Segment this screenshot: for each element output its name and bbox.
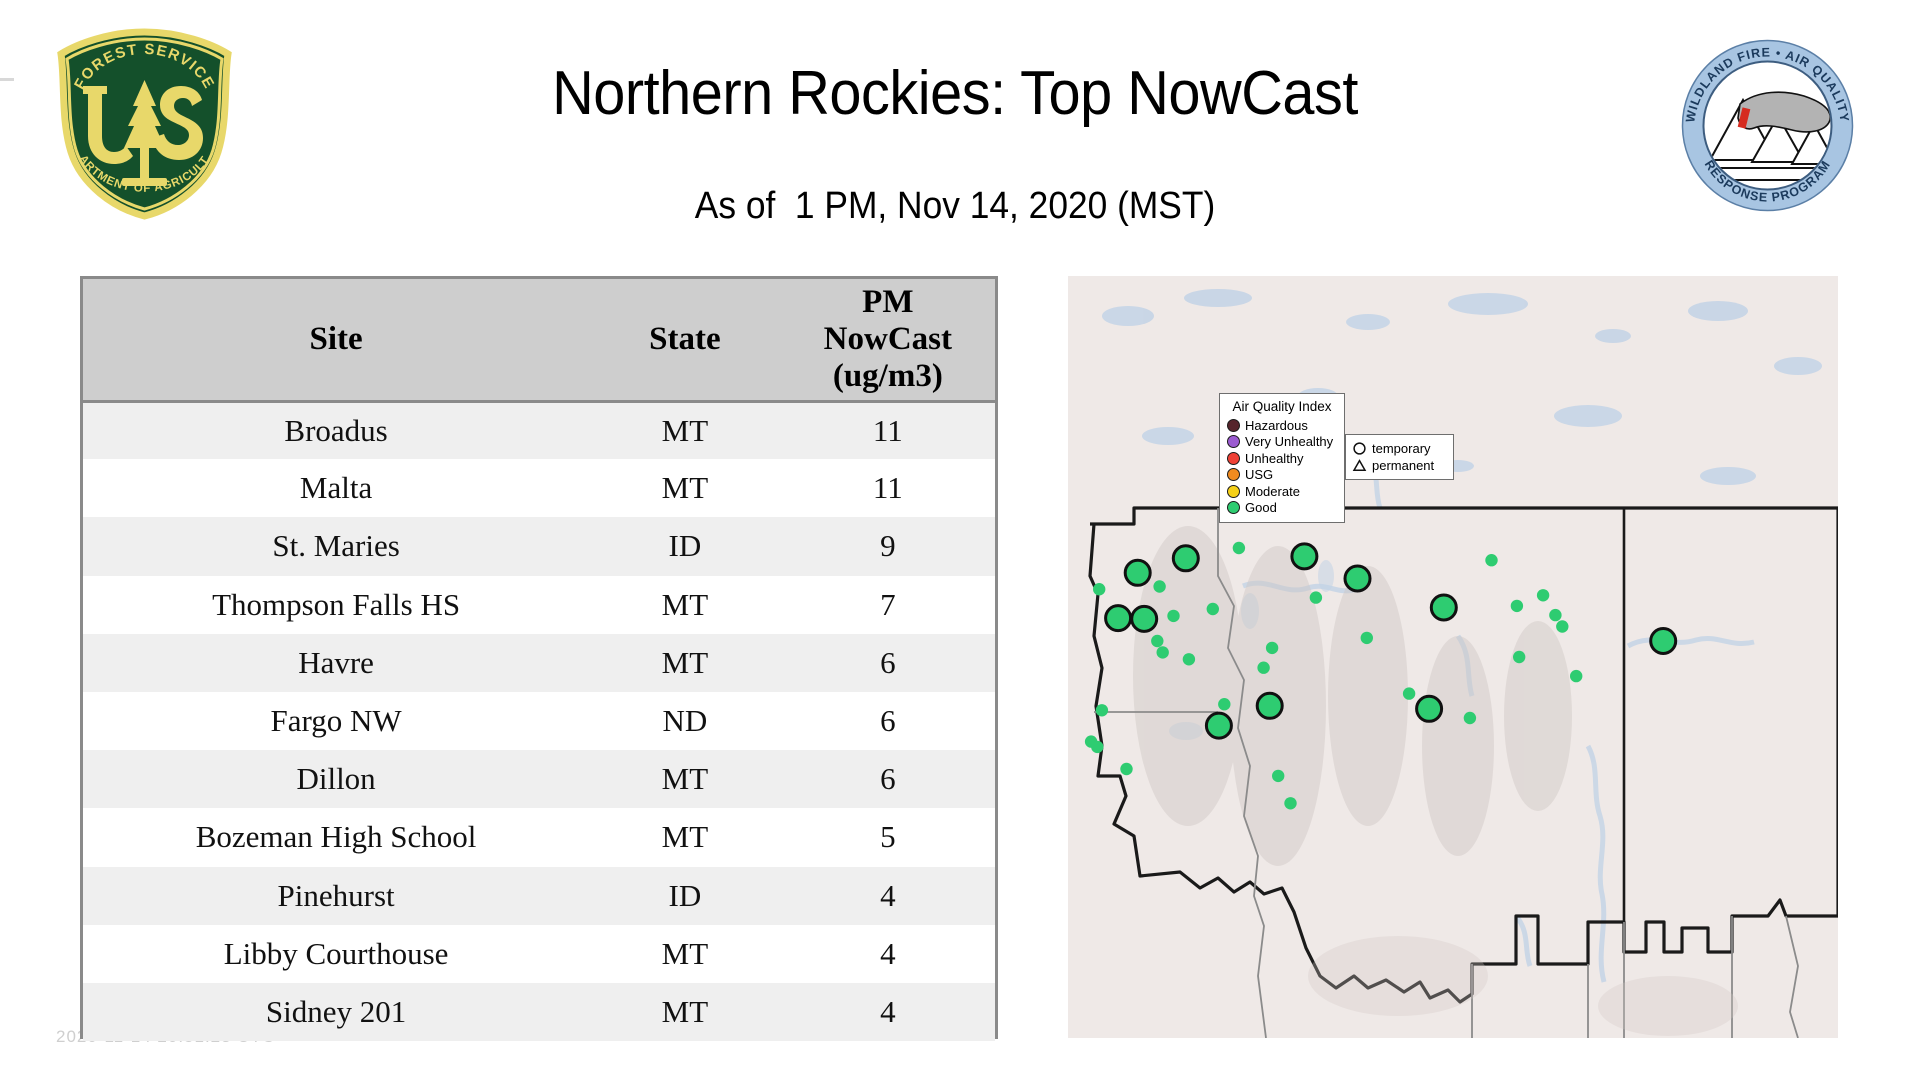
monitor-marker-small[interactable] bbox=[1218, 698, 1230, 710]
table-row: Malta MT 11 bbox=[83, 459, 995, 517]
monitor-marker-small[interactable] bbox=[1096, 704, 1108, 716]
monitor-marker-small[interactable] bbox=[1513, 651, 1525, 663]
cell-site: Sidney 201 bbox=[83, 983, 589, 1041]
legend-item-unhealthy: Unhealthy bbox=[1227, 450, 1337, 467]
monitor-marker-small[interactable] bbox=[1153, 580, 1165, 592]
legend-swatch-moderate-icon bbox=[1227, 485, 1240, 498]
monitor-marker-small[interactable] bbox=[1556, 620, 1568, 632]
cell-state: MT bbox=[589, 401, 781, 459]
legend-label-unhealthy: Unhealthy bbox=[1245, 451, 1304, 466]
cell-site: Broadus bbox=[83, 401, 589, 459]
column-header-site-label: Site bbox=[309, 321, 362, 357]
cell-state: MT bbox=[589, 925, 781, 983]
monitor-marker-small[interactable] bbox=[1120, 763, 1132, 775]
wildland-fire-air-quality-logo: WILDLAND FIRE • AIR QUALITY RESPONSE PRO… bbox=[1680, 38, 1855, 213]
monitor-marker-small[interactable] bbox=[1272, 770, 1284, 782]
table-row: Libby Courthouse MT 4 bbox=[83, 925, 995, 983]
table-row: Pinehurst ID 4 bbox=[83, 867, 995, 925]
monitor-marker-small[interactable] bbox=[1207, 603, 1219, 615]
cell-state: MT bbox=[589, 459, 781, 517]
cell-site: Thompson Falls HS bbox=[83, 576, 589, 634]
cell-site: Pinehurst bbox=[83, 867, 589, 925]
monitor-site-markers bbox=[1068, 276, 1838, 1038]
slide-edge-tick bbox=[0, 78, 14, 81]
table-row: Havre MT 6 bbox=[83, 634, 995, 692]
table-row: Bozeman High School MT 5 bbox=[83, 808, 995, 866]
legend-item-temporary: temporary bbox=[1352, 440, 1447, 457]
cell-pm: 9 bbox=[781, 517, 995, 575]
monitor-marker-small[interactable] bbox=[1403, 687, 1415, 699]
cell-site: Libby Courthouse bbox=[83, 925, 589, 983]
cell-pm: 11 bbox=[781, 459, 995, 517]
monitor-marker-small[interactable] bbox=[1570, 670, 1582, 682]
cell-site: Dillon bbox=[83, 750, 589, 808]
cell-pm: 11 bbox=[781, 401, 995, 459]
monitor-marker-small[interactable] bbox=[1257, 662, 1269, 674]
cell-pm: 6 bbox=[781, 692, 995, 750]
cell-state: MT bbox=[589, 983, 781, 1041]
table-row: Thompson Falls HS MT 7 bbox=[83, 576, 995, 634]
monitor-marker-small[interactable] bbox=[1151, 635, 1163, 647]
cell-site: St. Maries bbox=[83, 517, 589, 575]
cell-pm: 7 bbox=[781, 576, 995, 634]
cell-pm: 4 bbox=[781, 867, 995, 925]
legend-label-hazardous: Hazardous bbox=[1245, 418, 1308, 433]
monitor-marker-small[interactable] bbox=[1093, 583, 1105, 595]
legend-item-moderate: Moderate bbox=[1227, 483, 1337, 500]
nowcast-table-container: Site State PM NowCast (ug/m3) Broadus MT bbox=[80, 276, 998, 1039]
cell-state: MT bbox=[589, 808, 781, 866]
legend-item-usg: USG bbox=[1227, 467, 1337, 484]
cell-state: ID bbox=[589, 517, 781, 575]
cell-site: Fargo NW bbox=[83, 692, 589, 750]
monitor-marker-highlighted[interactable] bbox=[1132, 606, 1157, 631]
legend-item-very-unhealthy: Very Unhealthy bbox=[1227, 434, 1337, 451]
legend-swatch-usg-icon bbox=[1227, 468, 1240, 481]
monitor-type-legend: temporary permanent bbox=[1345, 434, 1454, 480]
monitor-marker-small[interactable] bbox=[1091, 741, 1103, 753]
legend-title: Air Quality Index bbox=[1227, 399, 1337, 414]
us-forest-service-logo: FOREST SERVICE DEPARTMENT OF AGRICULTURE bbox=[52, 28, 237, 220]
legend-item-permanent: permanent bbox=[1352, 457, 1447, 474]
column-header-pm-line1: PM bbox=[785, 284, 991, 321]
monitor-marker-highlighted[interactable] bbox=[1173, 546, 1198, 571]
column-header-site: Site bbox=[83, 279, 589, 401]
cell-state: MT bbox=[589, 634, 781, 692]
monitor-marker-highlighted[interactable] bbox=[1417, 696, 1442, 721]
cell-pm: 5 bbox=[781, 808, 995, 866]
cell-pm: 6 bbox=[781, 750, 995, 808]
table-row: Dillon MT 6 bbox=[83, 750, 995, 808]
cell-state: ID bbox=[589, 867, 781, 925]
monitor-marker-small[interactable] bbox=[1485, 554, 1497, 566]
column-header-state-label: State bbox=[649, 321, 720, 357]
cell-pm: 4 bbox=[781, 925, 995, 983]
legend-swatch-very-unhealthy-icon bbox=[1227, 435, 1240, 448]
table-row: Fargo NW ND 6 bbox=[83, 692, 995, 750]
legend-label-temporary: temporary bbox=[1372, 441, 1431, 456]
monitor-marker-small[interactable] bbox=[1183, 653, 1195, 665]
table-row: Sidney 201 MT 4 bbox=[83, 983, 995, 1041]
monitor-marker-highlighted[interactable] bbox=[1651, 629, 1676, 654]
monitor-marker-small[interactable] bbox=[1549, 609, 1561, 621]
monitor-marker-highlighted[interactable] bbox=[1292, 544, 1317, 569]
monitor-marker-highlighted[interactable] bbox=[1431, 595, 1456, 620]
cell-pm: 6 bbox=[781, 634, 995, 692]
cell-state: MT bbox=[589, 576, 781, 634]
air-quality-monitor-map[interactable]: Air Quality Index Hazardous Very Unhealt… bbox=[1068, 276, 1838, 1038]
monitor-marker-small[interactable] bbox=[1310, 591, 1322, 603]
table-row: St. Maries ID 9 bbox=[83, 517, 995, 575]
legend-label-permanent: permanent bbox=[1372, 458, 1434, 473]
column-header-state: State bbox=[589, 279, 781, 401]
column-header-pm-nowcast: PM NowCast (ug/m3) bbox=[781, 279, 995, 401]
monitor-marker-small[interactable] bbox=[1233, 542, 1245, 554]
nowcast-table: Site State PM NowCast (ug/m3) Broadus MT bbox=[83, 279, 995, 1041]
monitor-marker-small[interactable] bbox=[1167, 610, 1179, 622]
cell-site: Malta bbox=[83, 459, 589, 517]
legend-label-good: Good bbox=[1245, 500, 1277, 515]
legend-label-moderate: Moderate bbox=[1245, 484, 1300, 499]
monitor-marker-small[interactable] bbox=[1511, 600, 1523, 612]
monitor-marker-small[interactable] bbox=[1266, 642, 1278, 654]
circle-icon bbox=[1352, 441, 1367, 456]
table-header-row: Site State PM NowCast (ug/m3) bbox=[83, 279, 995, 401]
legend-item-good: Good bbox=[1227, 500, 1337, 517]
monitor-marker-highlighted[interactable] bbox=[1106, 606, 1131, 631]
legend-swatch-hazardous-icon bbox=[1227, 419, 1240, 432]
legend-swatch-good-icon bbox=[1227, 501, 1240, 514]
monitor-marker-highlighted[interactable] bbox=[1257, 693, 1282, 718]
cell-state: MT bbox=[589, 750, 781, 808]
column-header-pm-line3: (ug/m3) bbox=[785, 358, 991, 395]
legend-swatch-unhealthy-icon bbox=[1227, 452, 1240, 465]
table-row: Broadus MT 11 bbox=[83, 401, 995, 459]
monitor-marker-highlighted[interactable] bbox=[1345, 566, 1370, 591]
page-title: Northern Rockies: Top NowCast bbox=[290, 60, 1620, 128]
cell-site: Bozeman High School bbox=[83, 808, 589, 866]
monitor-marker-highlighted[interactable] bbox=[1125, 560, 1150, 585]
cell-state: ND bbox=[589, 692, 781, 750]
monitor-marker-small[interactable] bbox=[1464, 712, 1476, 724]
triangle-icon bbox=[1352, 458, 1367, 473]
column-header-pm-line2: NowCast bbox=[785, 321, 991, 358]
monitor-marker-small[interactable] bbox=[1361, 632, 1373, 644]
slide-root: FOREST SERVICE DEPARTMENT OF AGRICULTURE bbox=[0, 0, 1920, 1080]
legend-item-hazardous: Hazardous bbox=[1227, 417, 1337, 434]
cell-site: Havre bbox=[83, 634, 589, 692]
air-quality-index-legend: Air Quality Index Hazardous Very Unhealt… bbox=[1219, 393, 1345, 523]
legend-label-very-unhealthy: Very Unhealthy bbox=[1245, 434, 1333, 449]
page-subtitle-timestamp: As of 1 PM, Nov 14, 2020 (MST) bbox=[290, 186, 1620, 228]
monitor-marker-small[interactable] bbox=[1284, 797, 1296, 809]
legend-label-usg: USG bbox=[1245, 467, 1273, 482]
monitor-marker-small[interactable] bbox=[1537, 589, 1549, 601]
cell-pm: 4 bbox=[781, 983, 995, 1041]
monitor-marker-highlighted[interactable] bbox=[1206, 713, 1231, 738]
monitor-marker-small[interactable] bbox=[1157, 646, 1169, 658]
